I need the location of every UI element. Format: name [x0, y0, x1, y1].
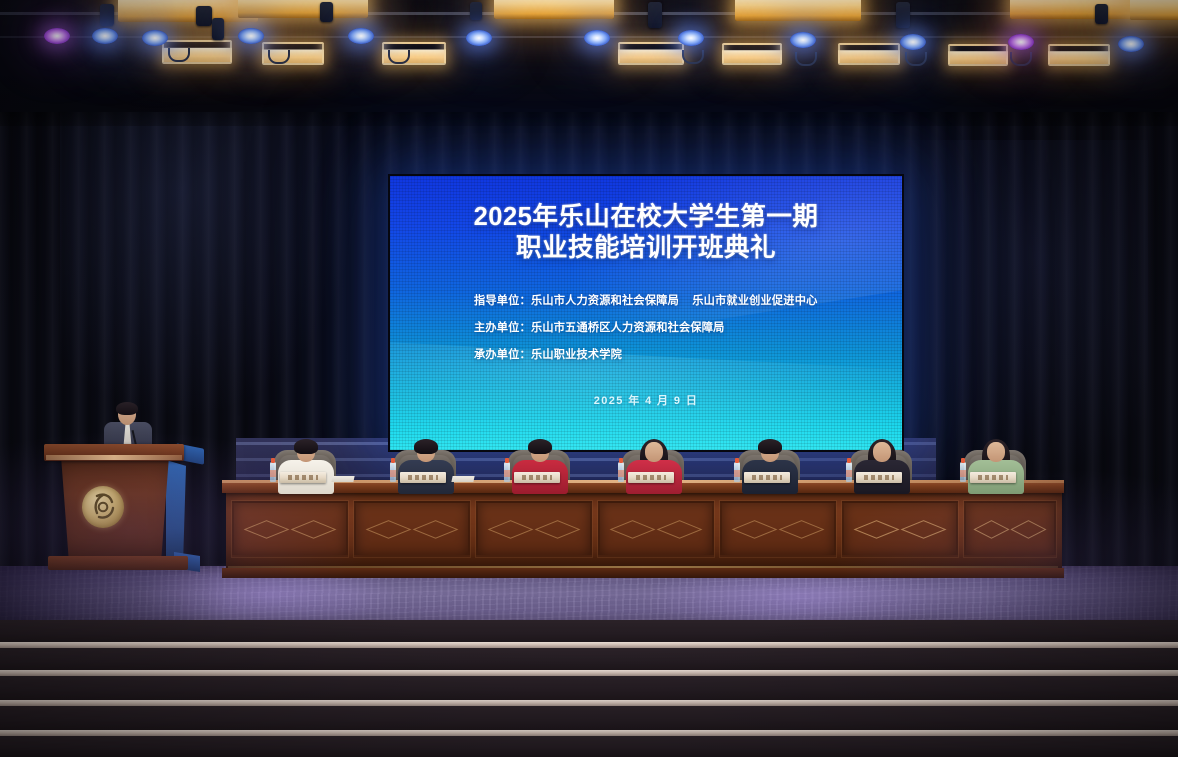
document-paper	[331, 476, 354, 482]
water-bottle-icon	[504, 462, 510, 482]
podium-desktop	[44, 444, 184, 461]
panelist-hair	[294, 439, 318, 454]
spot-light-icon	[678, 30, 704, 46]
water-bottle-icon	[618, 462, 624, 482]
step-tread	[0, 706, 1178, 732]
table-base-skirt	[222, 568, 1064, 578]
water-bottle-icon	[734, 462, 740, 482]
floor-shadow-left	[0, 566, 230, 626]
bar-light-icon	[948, 44, 1008, 66]
spot-light-icon	[92, 28, 118, 44]
light-fixture-body	[320, 2, 333, 22]
podium-accent-panel	[166, 460, 186, 558]
table-carved-panel	[720, 501, 836, 557]
spot-light-icon	[466, 30, 492, 46]
light-fixture-body	[196, 6, 212, 26]
bar-light-icon	[494, 0, 614, 19]
name-card-1	[280, 472, 326, 483]
table-carved-panel	[354, 501, 470, 557]
light-yoke-bracket	[388, 50, 410, 64]
spot-light-icon	[584, 30, 610, 46]
bar-light-icon	[1130, 0, 1178, 20]
table-carved-panel	[476, 501, 592, 557]
water-bottle-icon	[270, 462, 276, 482]
organizer-line-host: 主办单位：乐山市五通桥区人力资源和社会保障局	[474, 323, 872, 335]
table-carved-panel	[598, 501, 714, 557]
name-card-3	[514, 472, 560, 483]
bar-light-icon	[1048, 44, 1110, 66]
name-card-4	[628, 472, 674, 483]
step-tread	[0, 676, 1178, 702]
water-bottle-icon	[846, 462, 852, 482]
bar-light-icon	[735, 0, 861, 21]
screen-title-line2: 职业技能培训开班典礼	[474, 233, 819, 264]
stage-scene-photo: 2025年乐山在校大学生第一期 职业技能培训开班典礼 指导单位：乐山市人力资源和…	[0, 0, 1178, 757]
spot-light-icon	[142, 30, 168, 46]
light-fixture-body	[1095, 4, 1108, 24]
spot-light-icon	[1118, 36, 1144, 52]
name-card-7	[970, 472, 1016, 483]
bar-light-icon	[838, 43, 900, 65]
bar-light-icon	[118, 0, 258, 22]
screen-date-text: 2025 年 4 月 9 日	[594, 392, 699, 408]
speaking-podium	[44, 444, 196, 574]
water-bottle-icon	[960, 462, 966, 482]
spot-light-icon	[900, 34, 926, 50]
screen-title: 2025年乐山在校大学生第一期 职业技能培训开班典礼	[474, 202, 819, 264]
step-tread	[0, 736, 1178, 757]
light-yoke-bracket	[905, 52, 927, 66]
curtain-glow-right	[868, 140, 1148, 470]
panelist-head	[987, 442, 1005, 462]
screen-title-line1: 2025年乐山在校大学生第一期	[474, 203, 819, 231]
bar-light-icon	[618, 42, 684, 65]
table-carved-panel	[964, 501, 1056, 557]
conference-table	[222, 480, 1064, 580]
light-yoke-bracket	[268, 50, 290, 64]
name-card-5	[744, 472, 790, 483]
panelist-head	[873, 442, 891, 462]
light-yoke-bracket	[795, 52, 817, 66]
water-bottle-icon	[390, 462, 396, 482]
light-yoke-bracket	[682, 50, 704, 64]
stage-steps	[0, 620, 1178, 757]
organizer-line-guidance: 指导单位：乐山市人力资源和社会保障局 乐山市就业创业促进中心	[474, 296, 872, 308]
light-fixture-body	[470, 2, 482, 20]
step-tread	[0, 620, 1178, 644]
step-tread	[0, 648, 1178, 672]
spot-light-icon	[790, 32, 816, 48]
spot-light-icon	[238, 28, 264, 44]
podium-desktop-edge	[46, 455, 182, 460]
speaker-hair	[116, 402, 138, 415]
light-fixture-body	[100, 4, 114, 26]
bar-light-icon	[1010, 0, 1138, 19]
light-yoke-bracket	[1010, 52, 1032, 66]
organizer-line-organizer: 承办单位：乐山职业技术学院	[474, 350, 872, 362]
light-fixture-body	[648, 2, 662, 28]
panelist-head	[645, 442, 663, 462]
led-display-screen: 2025年乐山在校大学生第一期 职业技能培训开班典礼 指导单位：乐山市人力资源和…	[388, 174, 904, 452]
panelist-hair	[528, 439, 552, 454]
led-screen-surface: 2025年乐山在校大学生第一期 职业技能培训开班典礼 指导单位：乐山市人力资源和…	[390, 176, 902, 450]
light-fixture-body	[212, 18, 224, 40]
name-card-6	[856, 472, 902, 483]
panelist-hair	[758, 439, 782, 454]
light-fixture-body	[896, 2, 910, 28]
curtain-glow-left	[60, 90, 360, 420]
institution-swirl-emblem-icon	[82, 486, 124, 528]
table-carved-panel	[232, 501, 348, 557]
document-paper	[451, 476, 474, 482]
table-carved-panel	[842, 501, 958, 557]
screen-organizer-list: 指导单位：乐山市人力资源和社会保障局 乐山市就业创业促进中心 主办单位：乐山市五…	[420, 296, 872, 376]
spot-light-icon	[1008, 34, 1034, 50]
podium-base	[48, 556, 188, 570]
desk-items-row	[222, 462, 1064, 484]
table-front-face	[226, 492, 1062, 570]
bar-light-icon	[722, 43, 782, 65]
spot-light-icon	[44, 28, 70, 44]
name-card-2	[400, 472, 446, 483]
spot-light-icon	[348, 28, 374, 44]
panelist-hair	[414, 439, 438, 454]
stage-lighting-rig	[0, 0, 1178, 112]
bar-light-icon	[238, 0, 368, 18]
light-yoke-bracket	[168, 48, 190, 62]
